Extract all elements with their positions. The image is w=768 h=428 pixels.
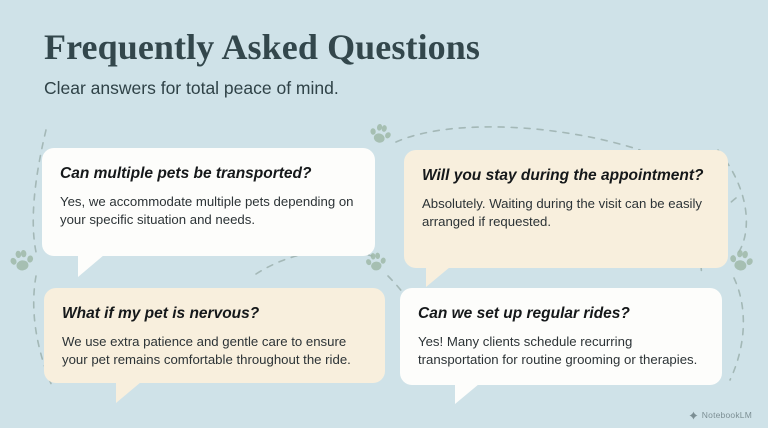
watermark: NotebookLM bbox=[689, 410, 752, 420]
faq-card-3: What if my pet is nervous? We use extra … bbox=[44, 288, 385, 383]
page-subtitle: Clear answers for total peace of mind. bbox=[44, 78, 724, 99]
speech-bubble-tail bbox=[455, 384, 479, 404]
dashed-trail-right-lower bbox=[730, 278, 743, 380]
paw-print-left bbox=[8, 249, 35, 272]
speech-bubble-tail bbox=[426, 267, 450, 287]
speech-bubble-tail bbox=[116, 382, 141, 403]
faq-answer: Absolutely. Waiting during the visit can… bbox=[422, 195, 710, 233]
paw-print-top-center bbox=[367, 122, 393, 145]
faq-answer: Yes! Many clients schedule recurring tra… bbox=[418, 333, 704, 371]
notebooklm-logo-icon bbox=[689, 411, 698, 420]
dashed-trail-top-center bbox=[396, 127, 640, 150]
faq-question: Can we set up regular rides? bbox=[418, 304, 704, 324]
page-title: Frequently Asked Questions bbox=[44, 28, 724, 68]
faq-card-1: Can multiple pets be transported? Yes, w… bbox=[42, 148, 375, 256]
faq-question: Can multiple pets be transported? bbox=[60, 164, 357, 184]
faq-page: Frequently Asked Questions Clear answers… bbox=[0, 0, 768, 428]
faq-question: Will you stay during the appointment? bbox=[422, 166, 710, 186]
faq-card-4: Can we set up regular rides? Yes! Many c… bbox=[400, 288, 722, 385]
faq-card-2: Will you stay during the appointment? Ab… bbox=[404, 150, 728, 268]
page-header: Frequently Asked Questions Clear answers… bbox=[44, 28, 724, 99]
faq-answer: Yes, we accommodate multiple pets depend… bbox=[60, 193, 357, 231]
paw-print-right bbox=[728, 248, 756, 272]
faq-question: What if my pet is nervous? bbox=[62, 304, 367, 324]
watermark-label: NotebookLM bbox=[702, 410, 752, 420]
faq-answer: We use extra patience and gentle care to… bbox=[62, 333, 367, 371]
speech-bubble-tail bbox=[78, 255, 104, 277]
